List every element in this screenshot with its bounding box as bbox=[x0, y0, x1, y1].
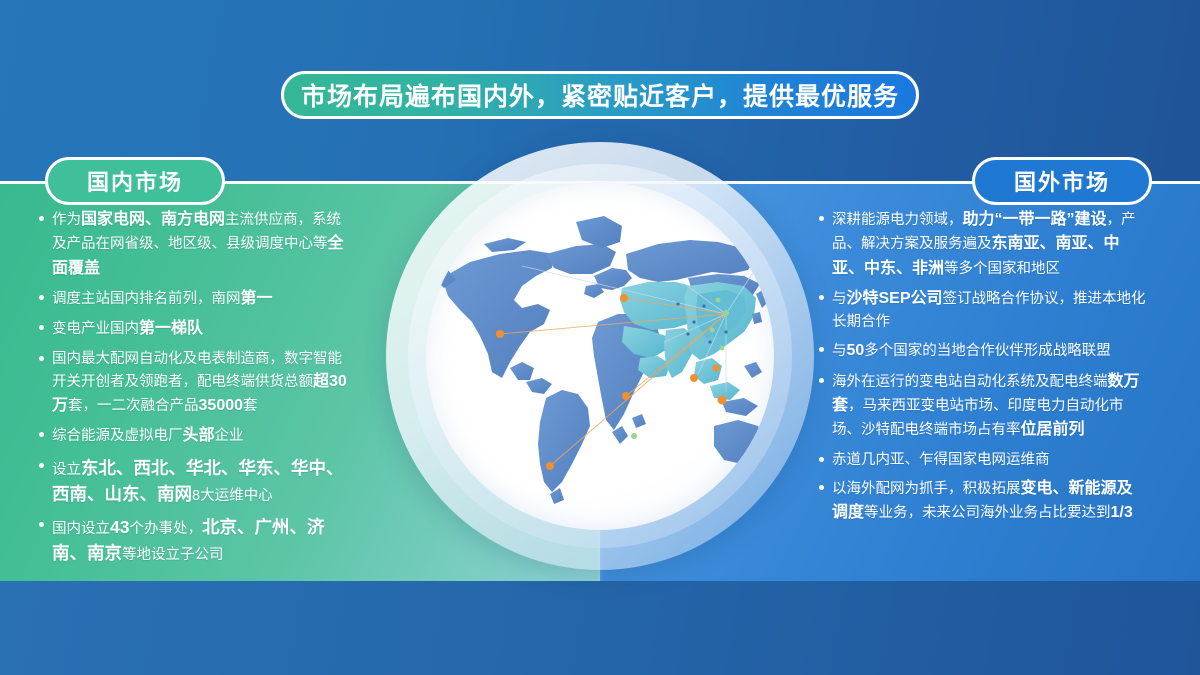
domestic-text-run: 头部 bbox=[183, 427, 215, 444]
domestic-text-run: 个办事处， bbox=[129, 521, 202, 537]
overseas-item: 与50多个国家的当地合作伙伴形成战略联盟 bbox=[818, 339, 1148, 363]
domestic-text-run: 国内设立 bbox=[52, 521, 110, 537]
domestic-text-run: 作为 bbox=[52, 212, 81, 228]
domestic-item: 国内设立43个办事处，北京、广州、济南、南京等地设立子公司 bbox=[38, 514, 348, 567]
domestic-text-run: 43 bbox=[110, 517, 129, 537]
domestic-item: 变电产业国内第一梯队 bbox=[38, 317, 348, 341]
overseas-text-run: 1/3 bbox=[1111, 504, 1133, 521]
domestic-item: 作为国家电网、南方电网主流供应商，系统及产品在网省级、地区级、县级调度中心等全面… bbox=[38, 208, 348, 281]
overseas-item: 与沙特SEP公司签订战略合作协议，推进本地化长期合作 bbox=[818, 287, 1148, 333]
domestic-item: 国内最大配网自动化及电表制造商，数字智能开关开创者及领跑者，配电终端供货总额超3… bbox=[38, 348, 348, 419]
domestic-text-run: 套 bbox=[243, 398, 258, 414]
domestic-text-run: 8大运维中心 bbox=[192, 488, 273, 504]
domestic-text-run: 国内最大配网自动化及电表制造商，数字智能开关开创者及领跑者，配电终端供货总额 bbox=[52, 351, 342, 390]
domestic-bullet-list: 作为国家电网、南方电网主流供应商，系统及产品在网省级、地区级、县级调度中心等全面… bbox=[38, 208, 348, 573]
domestic-text-run: 设立 bbox=[52, 462, 81, 478]
section-label-overseas: 国外市场 bbox=[1014, 165, 1110, 197]
domestic-text-run: 企业 bbox=[215, 428, 244, 444]
domestic-text-run: 第一 bbox=[241, 290, 273, 307]
overseas-bullet-list: 深耕能源电力领域，助力“一带一路”建设，产品、解决方案及服务遍及东南亚、南亚、中… bbox=[818, 208, 1148, 531]
domestic-text-run: 变电产业国内 bbox=[52, 321, 139, 337]
overseas-text-run: 深耕能源电力领域， bbox=[832, 212, 963, 228]
domestic-text-run: 等地设立子公司 bbox=[122, 547, 224, 563]
slide-root: 市场布局遍布国内外，紧密贴近客户，提供最优服务 国内市场 国外市场 作为国家电网… bbox=[0, 0, 1200, 675]
page-title: 市场布局遍布国内外，紧密贴近客户，提供最优服务 bbox=[301, 77, 899, 113]
domestic-text-run: 第一梯队 bbox=[139, 320, 203, 337]
overseas-text-run: 50 bbox=[847, 342, 865, 359]
globe-map-surface bbox=[426, 182, 774, 530]
section-header-domestic: 国内市场 bbox=[45, 157, 225, 205]
section-label-domestic: 国内市场 bbox=[87, 165, 183, 197]
world-map-svg bbox=[426, 182, 774, 530]
background-bottom-band bbox=[0, 581, 1200, 675]
domestic-text-run: 套，一二次融合产品 bbox=[68, 398, 199, 414]
globe-graphic bbox=[386, 142, 814, 570]
domestic-text-run: 35000 bbox=[199, 397, 244, 414]
domestic-item: 调度主站国内排名前列，南网第一 bbox=[38, 287, 348, 311]
domestic-text-run: 综合能源及虚拟电厂 bbox=[52, 428, 183, 444]
overseas-item: 赤道几内亚、乍得国家电网运维商 bbox=[818, 449, 1148, 471]
overseas-text-run: 多个国家的当地合作伙伴形成战略联盟 bbox=[864, 343, 1111, 359]
overseas-item: 海外在运行的变电站自动化系统及配电终端数万套，马来西亚变电站市场、印度电力自动化… bbox=[818, 370, 1148, 443]
domestic-item: 设立东北、西北、华北、华东、华中、西南、山东、南网8大运维中心 bbox=[38, 455, 348, 508]
overseas-text-run: 以海外配网为抓手，积极拓展 bbox=[832, 481, 1021, 497]
overseas-text-run: 海外在运行的变电站自动化系统及配电终端 bbox=[832, 374, 1108, 390]
overseas-text-run: 赤道几内亚、乍得国家电网运维商 bbox=[832, 452, 1050, 468]
domestic-item: 综合能源及虚拟电厂头部企业 bbox=[38, 424, 348, 448]
overseas-text-run: 等业务，未来公司海外业务占比要达到 bbox=[864, 505, 1111, 521]
overseas-text-run: 位居前列 bbox=[1021, 421, 1085, 438]
overseas-text-run: 与 bbox=[832, 343, 847, 359]
overseas-text-run: 助力“一带一路”建设 bbox=[963, 211, 1107, 228]
overseas-text-run: 沙特SEP公司 bbox=[847, 290, 943, 307]
overseas-item: 以海外配网为抓手，积极拓展变电、新能源及调度等业务，未来公司海外业务占比要达到1… bbox=[818, 477, 1148, 526]
overseas-text-run: 等多个国家和地区 bbox=[944, 261, 1060, 277]
domestic-text-run: 调度主站国内排名前列，南网 bbox=[52, 291, 241, 307]
overseas-item: 深耕能源电力领域，助力“一带一路”建设，产品、解决方案及服务遍及东南亚、南亚、中… bbox=[818, 208, 1148, 281]
domestic-text-run: 国家电网、南方电网 bbox=[81, 211, 225, 228]
overseas-text-run: 与 bbox=[832, 291, 847, 307]
slide-title-pill: 市场布局遍布国内外，紧密贴近客户，提供最优服务 bbox=[281, 71, 919, 119]
section-header-overseas: 国外市场 bbox=[972, 157, 1152, 205]
